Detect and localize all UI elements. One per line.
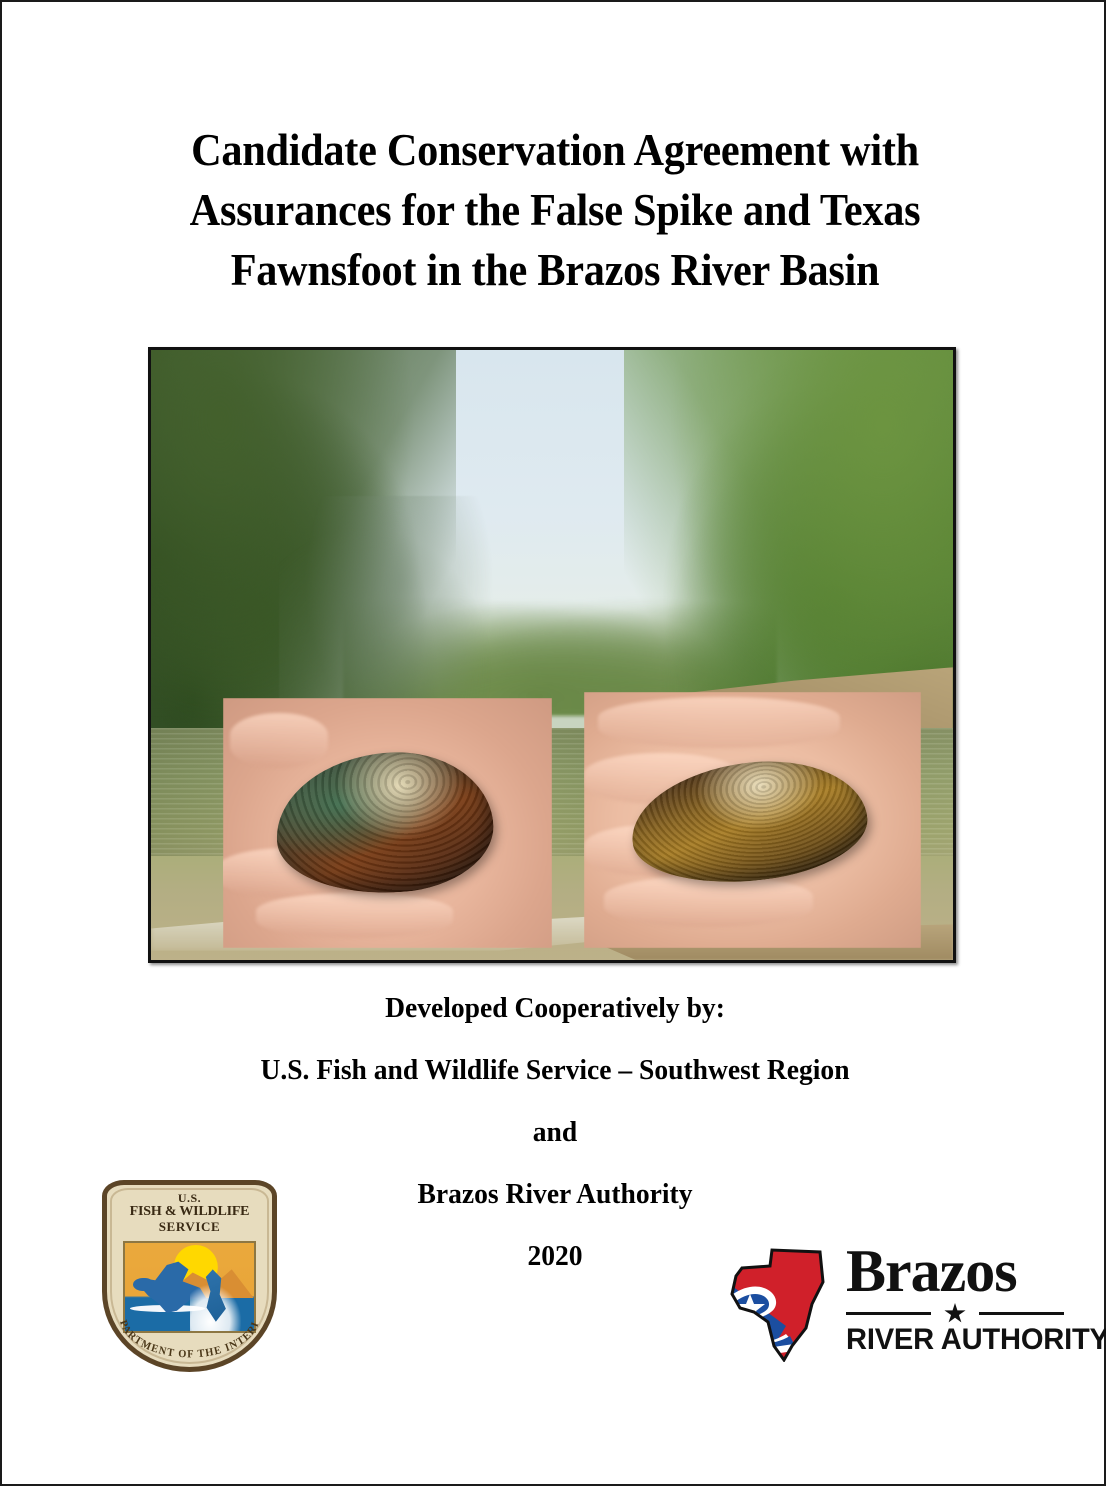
usfws-text-line-3: SERVICE: [107, 1220, 272, 1234]
credit-line-usfws: U.S. Fish and Wildlife Service – Southwe…: [121, 1039, 989, 1101]
svg-text:DEPARTMENT OF THE INTERIOR: DEPARTMENT OF THE INTERIOR: [107, 1318, 262, 1360]
page-title: Candidate Conservation Agreement with As…: [98, 120, 1012, 300]
duck-head-icon: [133, 1278, 153, 1291]
brazos-river-authority-logo: Brazos RIVER AUTHORITY: [724, 1240, 1064, 1365]
mussel-inset-right: [584, 692, 921, 948]
texas-state-icon: [724, 1242, 836, 1362]
document-cover-page: Candidate Conservation Agreement with As…: [0, 0, 1106, 1486]
usfws-text-line-1: U.S.: [107, 1192, 272, 1205]
mussel-inset-left: [223, 698, 552, 948]
brazos-wordmark: Brazos: [846, 1240, 1064, 1302]
cover-photo-scene: [151, 350, 953, 960]
star-icon: [944, 1303, 966, 1324]
usfws-arc-text: DEPARTMENT OF THE INTERIOR: [107, 1318, 272, 1360]
star-divider: [846, 1303, 1064, 1323]
title-line-3: Fawnsfoot in the Brazos River Basin: [125, 240, 984, 300]
cover-photo: [148, 347, 956, 963]
finger-shape: [604, 876, 813, 927]
divider-rule-right: [979, 1312, 1064, 1315]
usfws-text-line-2: FISH & WILDLIFE: [107, 1205, 272, 1220]
usfws-logo: U.S. FISH & WILDLIFE SERVICE: [102, 1180, 277, 1372]
department-of-interior-text: DEPARTMENT OF THE INTERIOR: [107, 1318, 262, 1360]
title-line-1: Candidate Conservation Agreement with: [125, 120, 984, 180]
finger-shape: [230, 713, 329, 768]
brazos-wordmark-block: Brazos RIVER AUTHORITY: [846, 1240, 1064, 1357]
river-authority-subtitle: RIVER AUTHORITY: [846, 1323, 1057, 1357]
credit-line-developed-by: Developed Cooperatively by:: [121, 977, 989, 1039]
title-line-2: Assurances for the False Spike and Texas: [125, 180, 984, 240]
finger-shape: [598, 697, 841, 748]
credit-line-and: and: [121, 1101, 989, 1163]
divider-rule-left: [846, 1312, 931, 1315]
usfws-shield: U.S. FISH & WILDLIFE SERVICE: [102, 1180, 277, 1372]
usfws-shield-text: U.S. FISH & WILDLIFE SERVICE: [107, 1192, 272, 1233]
finger-shape: [256, 893, 453, 938]
